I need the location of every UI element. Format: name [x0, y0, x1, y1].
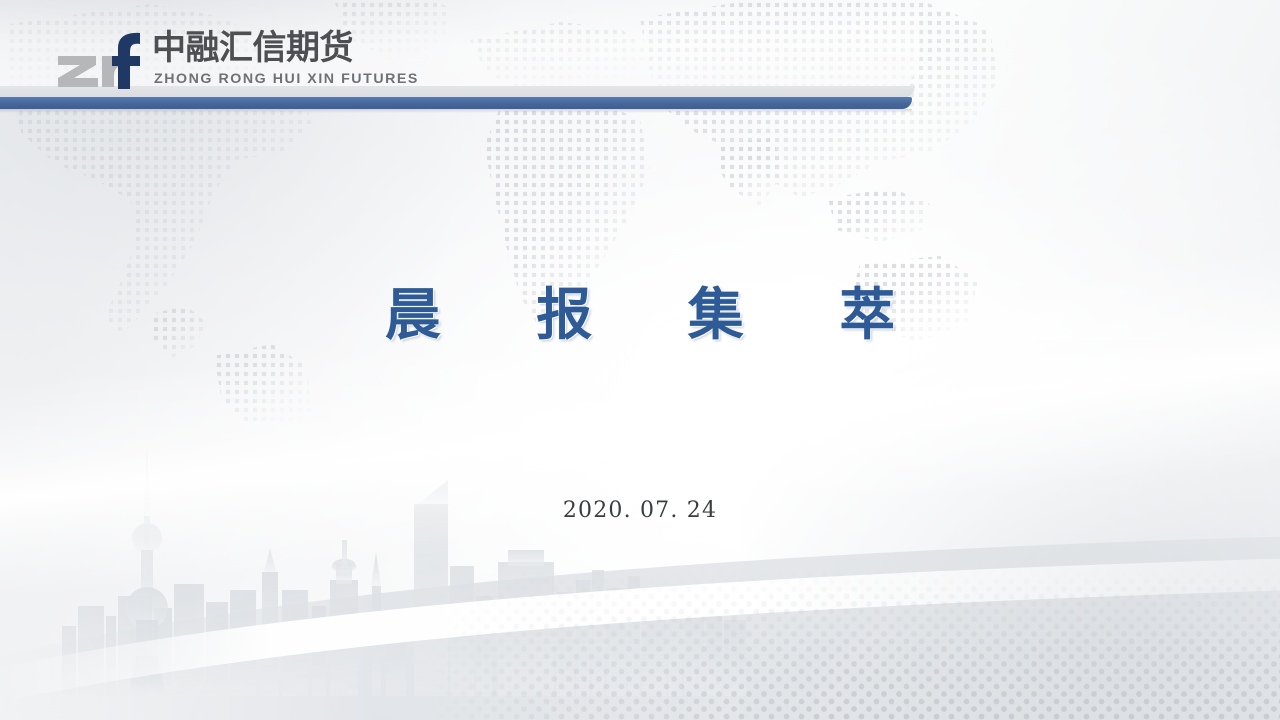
page-title: 晨 报 集 萃	[0, 283, 1280, 347]
slide-canvas: 中融汇信期货 ZHONG RONG HUI XIN FUTURES 晨 报 集 …	[0, 0, 1280, 720]
header-accent-bar-shadow	[0, 109, 912, 113]
header-accent-bar	[0, 97, 912, 109]
report-date: 2020. 07. 24	[0, 498, 1280, 523]
halftone-dot-field	[430, 570, 1280, 720]
company-name-en: ZHONG RONG HUI XIN FUTURES	[154, 71, 419, 87]
company-name-cn-text: 中融汇信期货	[152, 28, 353, 68]
company-name-cn-logotype: 中融汇信期货	[152, 28, 370, 68]
company-logo: 中融汇信期货 ZHONG RONG HUI XIN FUTURES	[56, 28, 419, 90]
zrf-logomark-icon	[56, 32, 142, 90]
